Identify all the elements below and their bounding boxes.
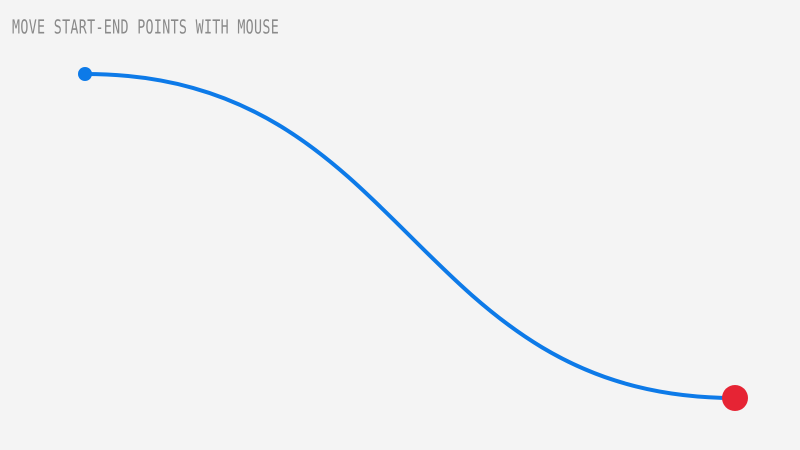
curve-svg-layer xyxy=(0,0,800,450)
end-point-handle[interactable] xyxy=(722,385,748,411)
start-point-handle[interactable] xyxy=(78,67,92,81)
bezier-demo-canvas: MOVE START-END POINTS WITH MOUSE xyxy=(0,0,800,450)
page-title: MOVE START-END POINTS WITH MOUSE xyxy=(12,17,279,37)
bezier-curve xyxy=(85,74,735,398)
